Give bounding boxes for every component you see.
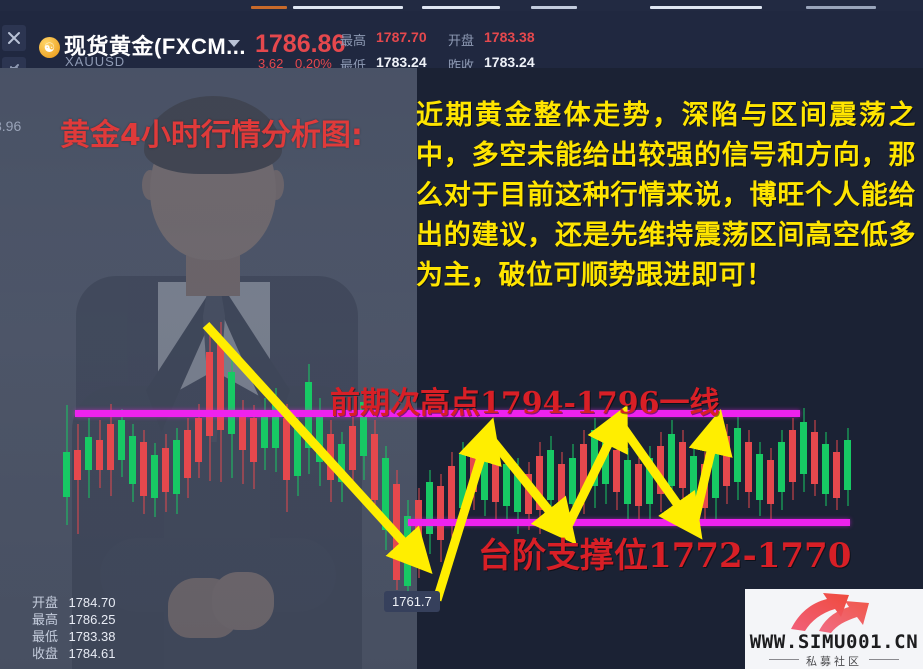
watermark-subtitle: 私募社区	[745, 653, 923, 669]
ohlc-label: 开盘	[32, 595, 58, 610]
ohlc-row: 最低 1783.38	[32, 626, 115, 643]
annotation-title: 黄金4小时行情分析图:	[60, 110, 363, 154]
tab-indicator[interactable]	[422, 6, 500, 9]
ohlc-readout: 开盘 1784.70 最高 1786.25 最低 1783.38 收盘 1784…	[32, 592, 115, 660]
tab-indicator[interactable]	[531, 6, 577, 9]
chevron-down-icon[interactable]	[228, 40, 240, 47]
stat-value-open: 1783.38	[484, 29, 535, 45]
zigzag-arrow-down-1	[492, 440, 563, 528]
ohlc-value: 1784.61	[68, 646, 115, 661]
ohlc-row: 最高 1786.25	[32, 609, 115, 626]
close-icon[interactable]	[2, 25, 26, 51]
ohlc-label: 最低	[32, 629, 58, 644]
ohlc-value: 1784.70	[68, 595, 115, 610]
ohlc-row: 开盘 1784.70	[32, 592, 115, 609]
quote-header-bar: ☯ 现货黄金(FXCM... XAUUSD 1786.86 3.62 0.20%…	[0, 11, 923, 68]
annotation-support-label: 台阶支撑位1772-1770	[478, 528, 851, 577]
trading-chart-screenshot: ☯ 现货黄金(FXCM... XAUUSD 1786.86 3.62 0.20%…	[0, 0, 923, 669]
candlestick-chart-canvas[interactable]: 8.96 1761.7 开盘 1784.70 最高 1786.25	[0, 68, 923, 669]
tab-indicator[interactable]	[251, 6, 287, 9]
annotation-resistance-label: 前期次高点1794-1796一线	[330, 378, 719, 422]
tab-indicator[interactable]	[650, 6, 762, 9]
browser-tab-strip[interactable]	[0, 0, 923, 11]
gold-coin-icon: ☯	[39, 37, 60, 58]
zigzag-arrow-down-2	[622, 426, 690, 522]
ohlc-label: 收盘	[32, 646, 58, 661]
growth-arrow-icon	[785, 591, 881, 633]
site-watermark: WWW.SIMU001.CN 私募社区	[745, 589, 923, 669]
tab-indicator[interactable]	[293, 6, 403, 9]
ohlc-row: 收盘 1784.61	[32, 643, 115, 660]
tab-indicator[interactable]	[806, 6, 876, 9]
annotation-paragraph: 近期黄金整体走势，深陷与区间震荡之中，多空未能给出较强的信号和方向，那么对于目前…	[416, 96, 916, 296]
watermark-url: WWW.SIMU001.CN	[745, 631, 923, 653]
ohlc-value: 1783.38	[68, 629, 115, 644]
downtrend-arrow	[206, 325, 418, 558]
stat-label-open: 开盘	[448, 30, 474, 49]
last-price: 1786.86	[255, 30, 345, 59]
symbol-code: XAUUSD	[65, 54, 125, 69]
zigzag-arrow-up-2	[566, 424, 618, 530]
stat-value-high: 1787.70	[376, 29, 427, 45]
last-price-tag: 1761.7	[384, 591, 440, 612]
zigzag-arrow-up-3	[694, 430, 716, 524]
ohlc-value: 1786.25	[68, 612, 115, 627]
ohlc-label: 最高	[32, 612, 58, 627]
stat-label-high: 最高	[340, 30, 366, 49]
